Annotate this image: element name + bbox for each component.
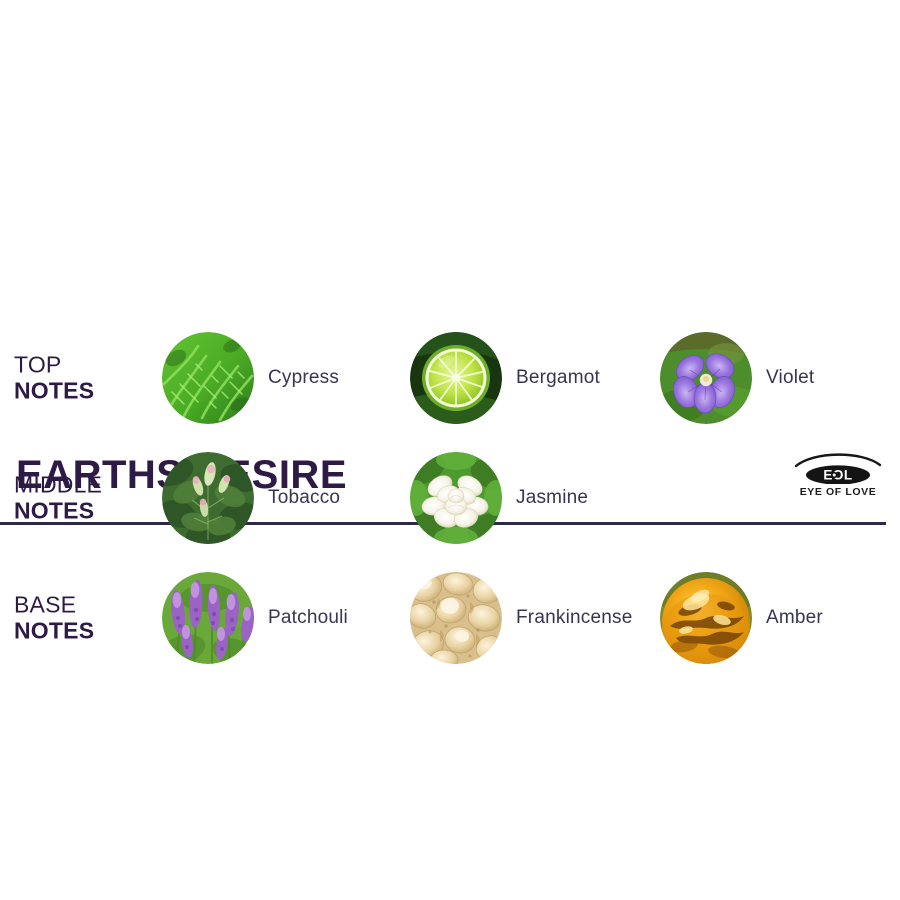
jasmine-thumb [410, 452, 502, 544]
note-item-bergamot[interactable]: Bergamot [410, 332, 600, 424]
violet-thumb [660, 332, 752, 424]
note-item-tobacco[interactable]: Tobacco [162, 452, 340, 544]
notes-row: MIDDLE NOTES [0, 438, 900, 558]
frankincense-thumb [410, 572, 502, 664]
note-item-jasmine[interactable]: Jasmine [410, 452, 588, 544]
notes-row: BASE NOTES [0, 558, 900, 678]
note-label: Jasmine [516, 487, 588, 509]
note-label: Frankincense [516, 607, 632, 629]
row-items: Cypress [0, 318, 900, 438]
note-label: Violet [766, 367, 814, 389]
note-label: Tobacco [268, 487, 340, 509]
bergamot-thumb [410, 332, 502, 424]
note-item-violet[interactable]: Violet [660, 332, 814, 424]
patchouli-thumb [162, 572, 254, 664]
fragrance-notes-slide: EARTHS DESIRE EOL EYE OF LOVE TOP NOTES [0, 0, 900, 900]
note-label: Amber [766, 607, 823, 629]
note-label: Patchouli [268, 607, 348, 629]
note-item-patchouli[interactable]: Patchouli [162, 572, 348, 664]
note-item-cypress[interactable]: Cypress [162, 332, 339, 424]
slide-header: EARTHS DESIRE EOL EYE OF LOVE [0, 222, 900, 304]
cypress-thumb [162, 332, 254, 424]
row-items: Tobacco [0, 438, 900, 558]
notes-rows: TOP NOTES [0, 318, 900, 678]
note-label: Bergamot [516, 367, 600, 389]
notes-row: TOP NOTES [0, 318, 900, 438]
note-item-amber[interactable]: Amber [660, 572, 823, 664]
row-items: Patchouli [0, 558, 900, 678]
note-label: Cypress [268, 367, 339, 389]
note-item-frankincense[interactable]: Frankincense [410, 572, 632, 664]
tobacco-thumb [162, 452, 254, 544]
amber-thumb [660, 572, 752, 664]
